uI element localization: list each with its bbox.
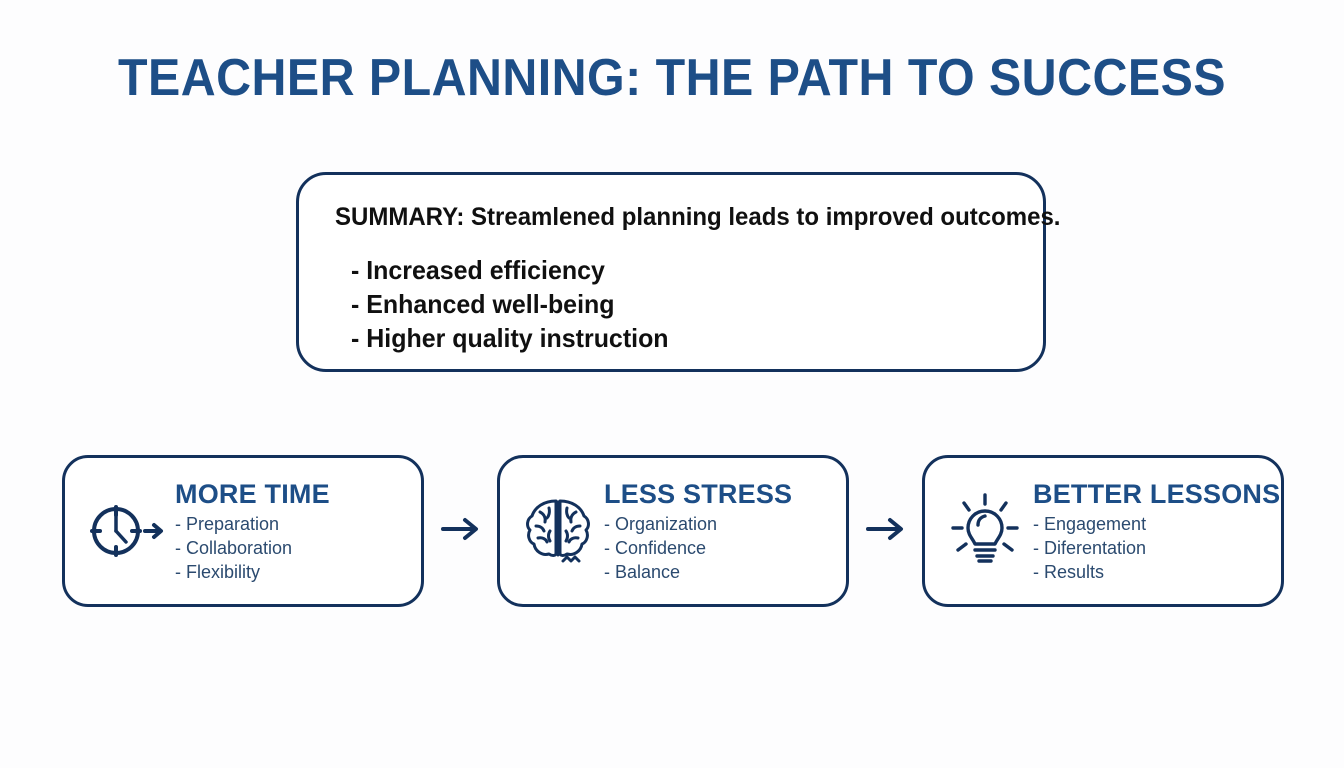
arrow-right-icon [440, 516, 482, 547]
card-bullet: - Diferentation [1033, 536, 1267, 560]
summary-box: SUMMARY: Streamlened planning leads to i… [296, 172, 1046, 372]
card-text-better-lessons: BETTER LESSONS - Engagement - Diferentat… [1033, 479, 1267, 584]
card-heading: BETTER LESSONS [1033, 479, 1267, 510]
card-text-less-stress: LESS STRESS - Organization - Confidence … [604, 479, 832, 584]
summary-statement: Streamlened planning leads to improved o… [471, 203, 1060, 231]
connector-2 [849, 516, 922, 547]
card-heading: MORE TIME [175, 479, 407, 510]
lightbulb-icon [947, 491, 1023, 571]
card-better-lessons: BETTER LESSONS - Engagement - Diferentat… [922, 455, 1284, 607]
card-less-stress: LESS STRESS - Organization - Confidence … [497, 455, 849, 607]
summary-bullet: - Enhanced well-being [351, 287, 669, 321]
clock-icon [87, 502, 165, 560]
card-bullet: - Preparation [175, 512, 407, 536]
summary-bullet-list: - Increased efficiency - Enhanced well-b… [351, 253, 682, 355]
card-bullet: - Collaboration [175, 536, 407, 560]
summary-heading: SUMMARY: Streamlened planning leads to i… [335, 203, 1060, 232]
page-title: TEACHER PLANNING: THE PATH TO SUCCESS [47, 48, 1297, 108]
card-bullet: - Engagement [1033, 512, 1267, 536]
card-bullet: - Confidence [604, 536, 832, 560]
card-bullet-list: - Engagement - Diferentation - Results [1033, 512, 1267, 584]
card-bullet-list: - Preparation - Collaboration - Flexibil… [175, 512, 407, 584]
card-bullet: - Balance [604, 560, 832, 584]
card-more-time: MORE TIME - Preparation - Collaboration … [62, 455, 424, 607]
process-flow: MORE TIME - Preparation - Collaboration … [62, 455, 1284, 607]
card-bullet: - Flexibility [175, 560, 407, 584]
brain-icon [522, 493, 594, 569]
card-text-more-time: MORE TIME - Preparation - Collaboration … [175, 479, 407, 584]
card-bullet-list: - Organization - Confidence - Balance [604, 512, 832, 584]
summary-label: SUMMARY: [335, 203, 464, 231]
card-bullet: - Results [1033, 560, 1267, 584]
card-bullet: - Organization [604, 512, 832, 536]
summary-bullet: - Higher quality instruction [351, 321, 669, 355]
summary-bullet: - Increased efficiency [351, 253, 669, 287]
card-heading: LESS STRESS [604, 479, 832, 510]
arrow-right-icon [865, 516, 907, 547]
connector-1 [424, 516, 497, 547]
